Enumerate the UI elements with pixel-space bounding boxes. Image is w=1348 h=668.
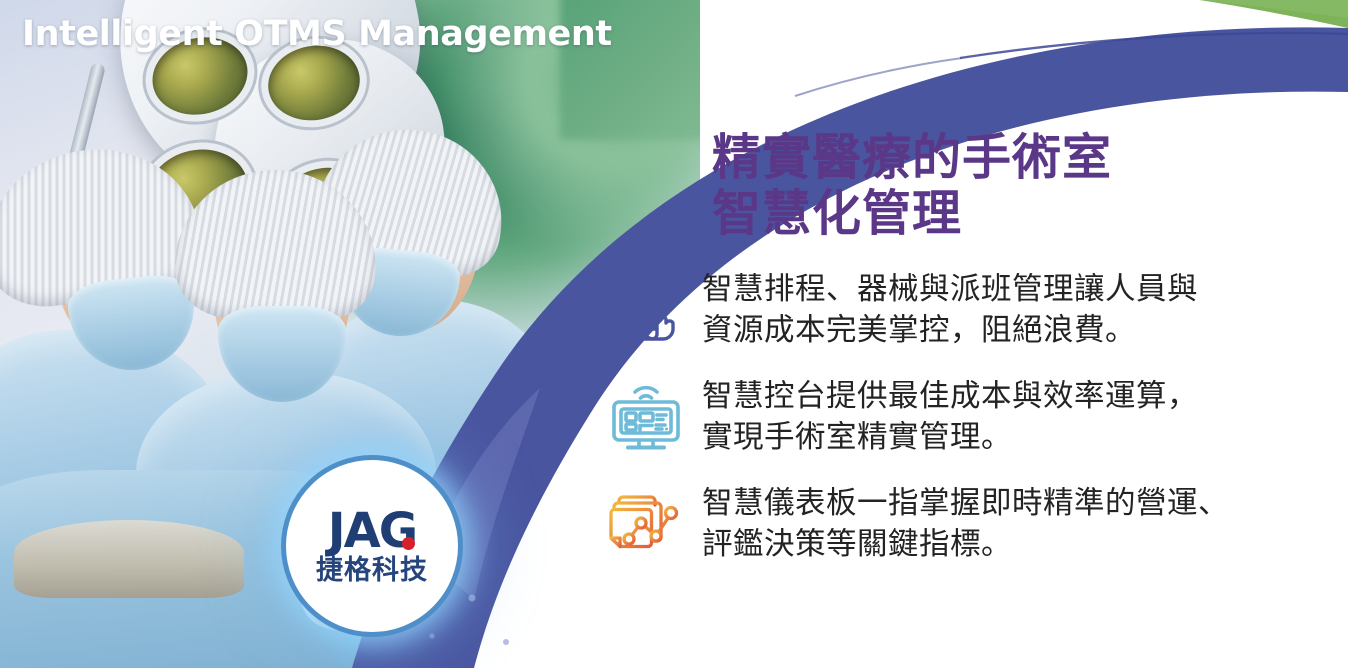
marketing-banner: JAG 捷格科技 Intelligent OTMS Management 精實醫… [0,0,1348,668]
sparkle [486,560,498,572]
feature-line-2: 資源成本完美掌控，阻絕浪費。 [702,311,1198,352]
navy-hairline-arc-extend [795,58,962,96]
feature-text-scheduling: 智慧排程、器械與派班管理讓人員與 資源成本完美掌控，阻絕浪費。 [702,268,1198,352]
feature-line-1: 智慧排程、器械與派班管理讓人員與 [702,270,1198,311]
feature-item-dashboard: 智慧儀表板一指掌握即時精準的營運、 評鑑決策等關鍵指標。 [604,482,1324,566]
feature-line-2: 實現手術室精實管理。 [702,418,1198,459]
feature-item-scheduling: 智慧排程、器械與派班管理讓人員與 資源成本完美掌控，阻絕浪費。 [604,268,1324,352]
content-panel: 精實醫療的手術室 智慧化管理 [604,130,1324,589]
green-corner-band-fade [960,0,1348,18]
feature-line-1: 智慧儀表板一指掌握即時精準的營運、 [702,484,1229,525]
feature-text-dashboard: 智慧儀表板一指掌握即時精準的營運、 評鑑決策等關鍵指標。 [702,482,1229,566]
tablet-touch-icon [604,268,688,352]
feature-text-console: 智慧控台提供最佳成本與效率運算， 實現手術室精實管理。 [702,375,1198,459]
page-headline: 精實醫療的手術室 智慧化管理 [712,130,1324,242]
logo-mark-text: JAG [328,503,416,559]
sparkle [452,630,459,637]
instrument-tray [14,520,244,598]
navy-hairline-arc [960,33,1348,58]
dashboard-analytics-icon [604,482,688,566]
headline-line-1: 精實醫療的手術室 [712,130,1324,186]
banner-eyebrow-title: Intelligent OTMS Management [22,14,612,54]
feature-line-1: 智慧控台提供最佳成本與效率運算， [702,377,1198,418]
headline-line-2: 智慧化管理 [712,186,1324,242]
green-corner-band [1055,0,1348,28]
feature-list: 智慧排程、器械與派班管理讓人員與 資源成本完美掌控，阻絕浪費。 [604,268,1324,566]
jag-logo-badge[interactable]: JAG 捷格科技 [281,455,463,637]
logo-company-name-cn: 捷格科技 [316,557,428,585]
logo-red-dot-icon [402,537,415,550]
smart-console-monitor-icon [604,375,688,459]
feature-line-2: 評鑑決策等關鍵指標。 [702,525,1229,566]
feature-item-console: 智慧控台提供最佳成本與效率運算， 實現手術室精實管理。 [604,375,1324,459]
logo-wordmark: JAG [328,507,416,555]
sparkle [524,604,532,612]
